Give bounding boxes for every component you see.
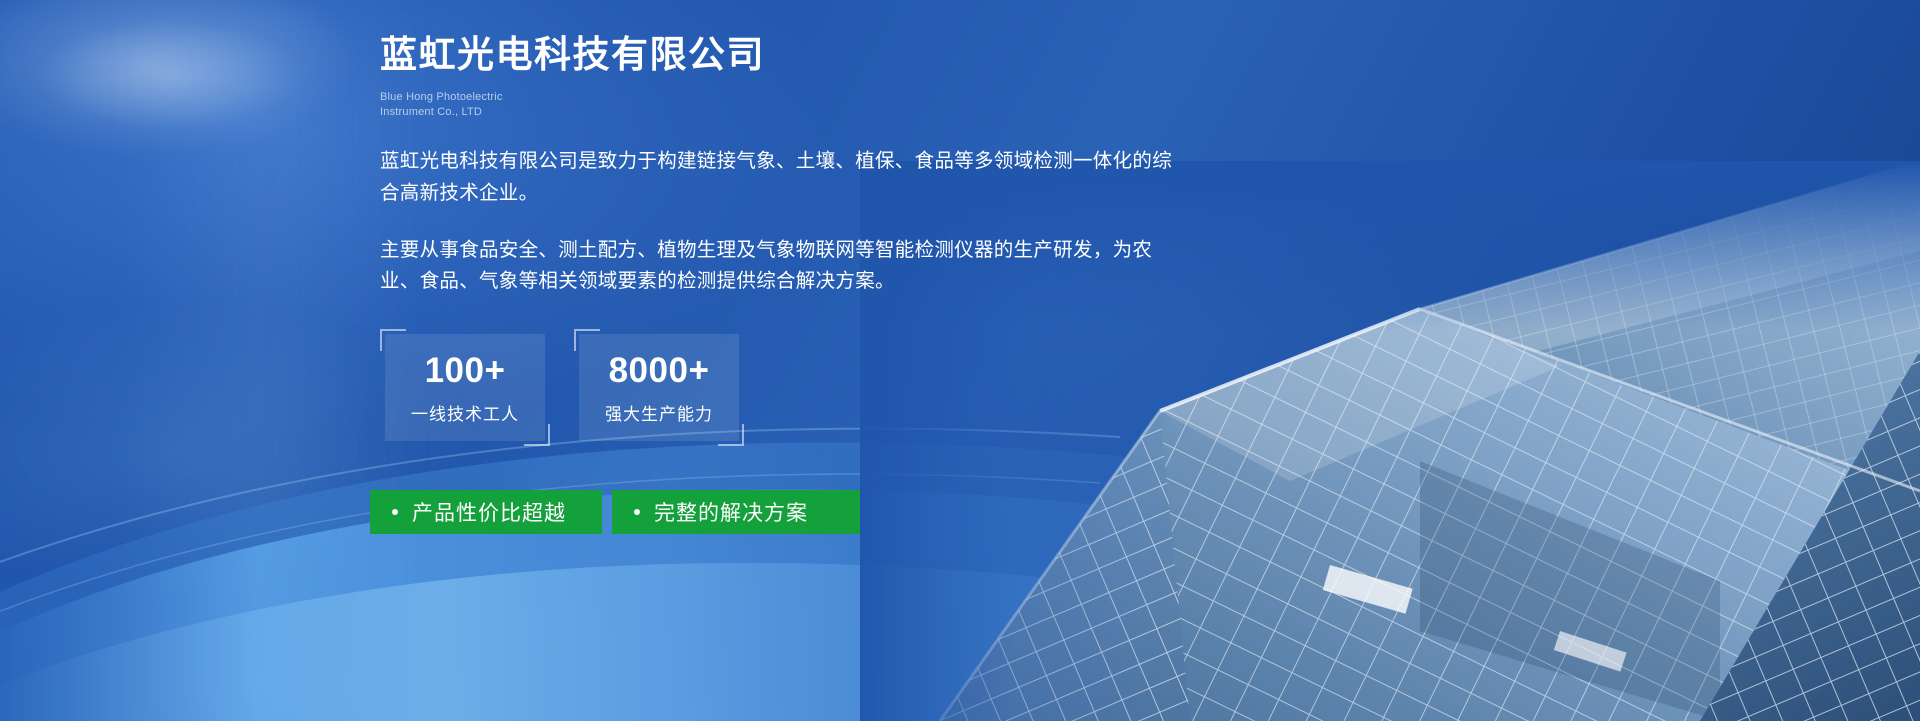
feature-tag-price-performance: 产品性价比超越 — [370, 490, 602, 534]
feature-tag-label: 完整的解决方案 — [654, 497, 808, 527]
stat-value: 100+ — [385, 352, 545, 391]
stat-label: 强大生产能力 — [579, 400, 739, 425]
stats-group: 100+ 一线技术工人 8000+ 强大生产能力 — [385, 334, 1280, 442]
stat-label: 一线技术工人 — [385, 400, 545, 425]
light-column-glow — [120, 0, 420, 721]
company-subtitle-en: Blue Hong Photoelectric Instrument Co., … — [380, 90, 1280, 119]
page-title: 蓝虹光电科技有限公司 — [380, 30, 1280, 80]
corner-bracket-icon — [380, 329, 406, 351]
corner-bracket-icon — [574, 329, 600, 351]
feature-tag-label: 产品性价比超越 — [412, 497, 566, 527]
subtitle-line-1: Blue Hong Photoelectric — [380, 90, 1280, 105]
corner-bracket-icon — [718, 424, 744, 446]
stat-card-workers: 100+ 一线技术工人 — [385, 334, 545, 442]
cloud-wisp-secondary — [40, 20, 300, 130]
feature-tags-group: 产品性价比超越 完整的解决方案 — [370, 490, 860, 534]
hero-banner: 蓝虹光电科技有限公司 Blue Hong Photoelectric Instr… — [0, 0, 1920, 721]
bullet-dot-icon — [392, 509, 398, 515]
description-paragraph-1: 蓝虹光电科技有限公司是致力于构建链接气象、土壤、植保、食品等多领域检测一体化的综… — [380, 146, 1180, 209]
feature-tag-complete-solution: 完整的解决方案 — [612, 490, 860, 534]
bullet-dot-icon — [634, 509, 640, 515]
hero-content: 蓝虹光电科技有限公司 Blue Hong Photoelectric Instr… — [380, 30, 1280, 441]
description-paragraph-2: 主要从事食品安全、测土配方、植物生理及气象物联网等智能检测仪器的生产研发，为农业… — [380, 235, 1180, 298]
stat-value: 8000+ — [579, 352, 739, 391]
subtitle-line-2: Instrument Co., LTD — [380, 105, 1280, 120]
cloud-wisp-top-left — [0, 0, 360, 160]
stat-card-capacity: 8000+ 强大生产能力 — [579, 334, 739, 442]
corner-bracket-icon — [524, 424, 550, 446]
